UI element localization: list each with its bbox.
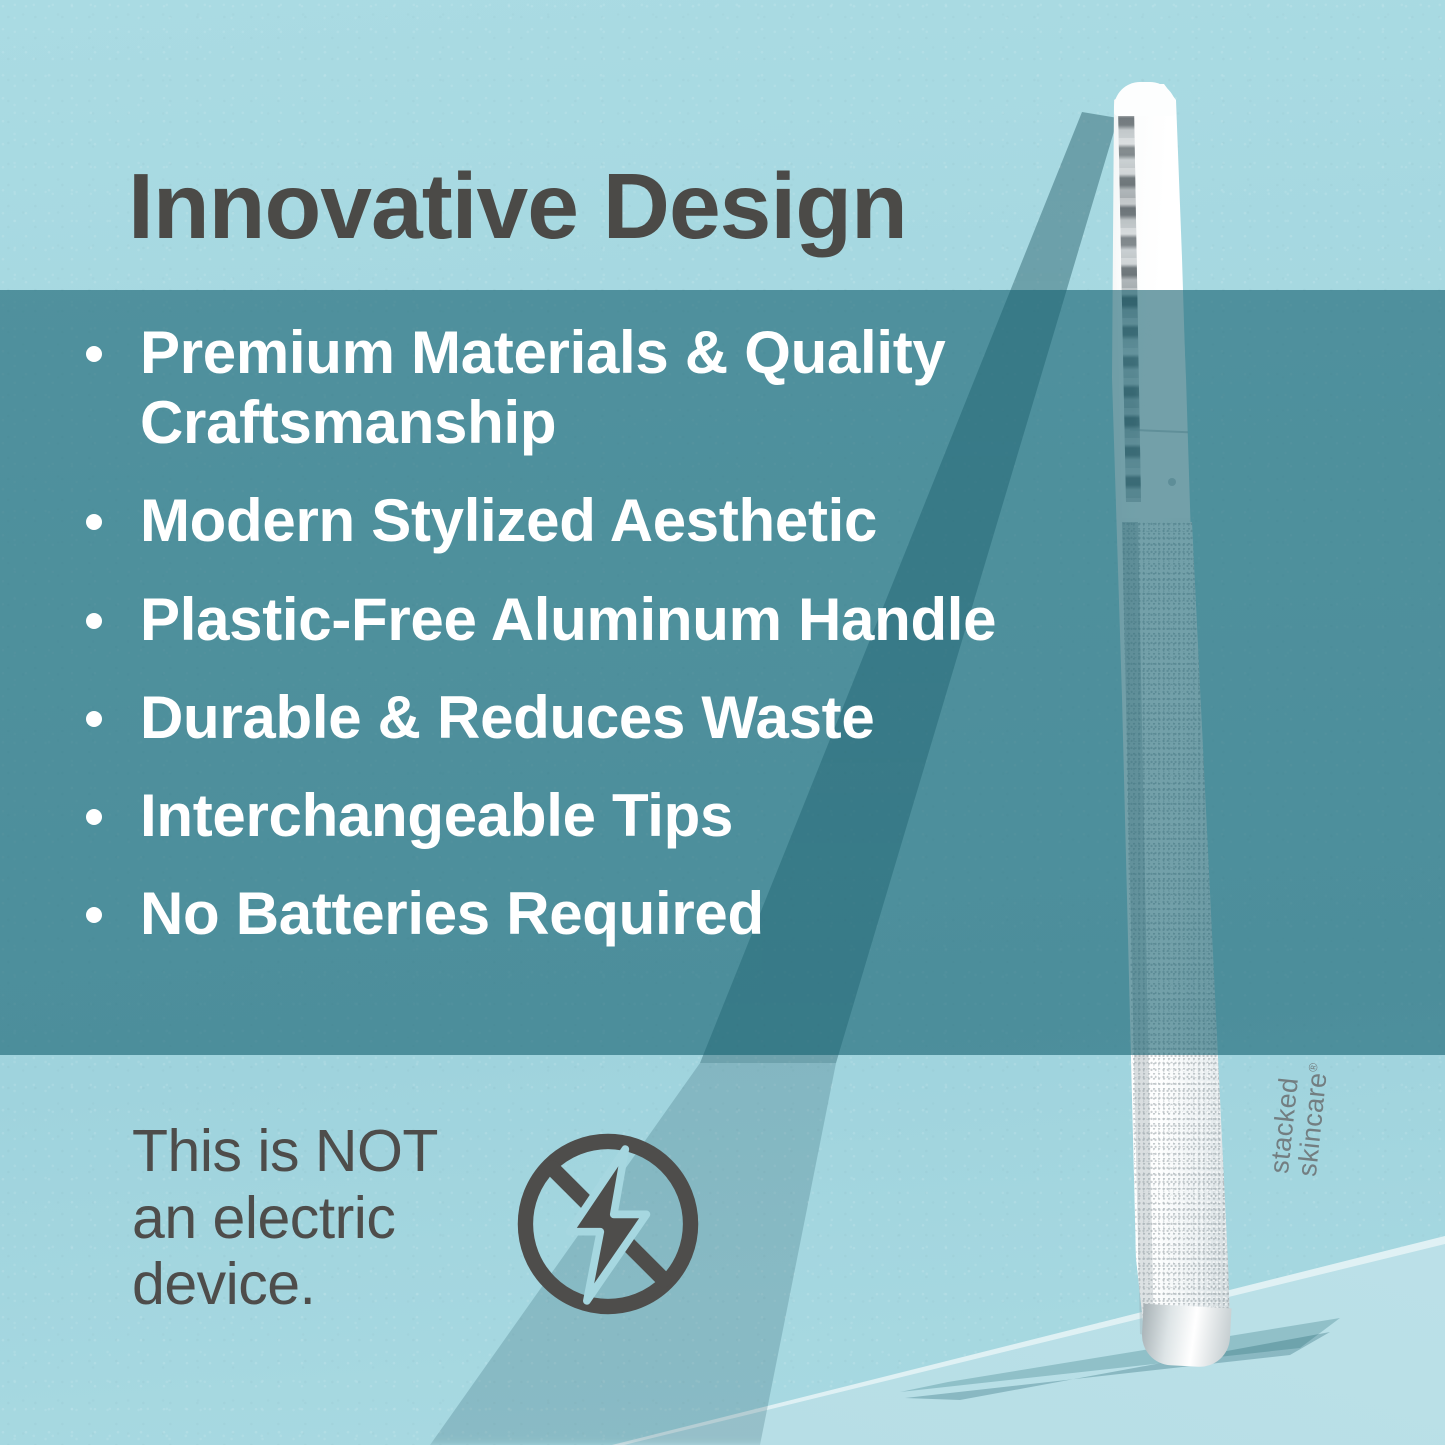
disclaimer-line-2: an electric: [132, 1185, 532, 1252]
list-item: Durable & Reduces Waste: [72, 683, 1132, 753]
brand-logo: stacked skincare®: [1266, 1059, 1333, 1178]
device-tip: [1114, 82, 1176, 116]
disclaimer-line-1: This is NOT: [132, 1118, 532, 1185]
list-item: Plastic-Free Aluminum Handle: [72, 585, 1132, 655]
list-item: Interchangeable Tips: [72, 781, 1132, 851]
registered-mark: ®: [1305, 1062, 1320, 1073]
list-item: Premium Materials & Quality Craftsmanshi…: [72, 318, 1132, 458]
list-item: No Batteries Required: [72, 879, 1132, 949]
feature-list: Premium Materials & Quality Craftsmanshi…: [72, 318, 1132, 977]
page-title: Innovative Design: [128, 160, 907, 253]
device-base-cap: [1140, 1304, 1231, 1369]
no-electricity-icon: [512, 1128, 704, 1320]
product-feature-image: stacked skincare® Innovative Design Prem…: [0, 0, 1445, 1445]
list-item: Modern Stylized Aesthetic: [72, 486, 1132, 556]
disclaimer-text: This is NOT an electric device.: [132, 1118, 532, 1318]
disclaimer-line-3: device.: [132, 1251, 532, 1318]
